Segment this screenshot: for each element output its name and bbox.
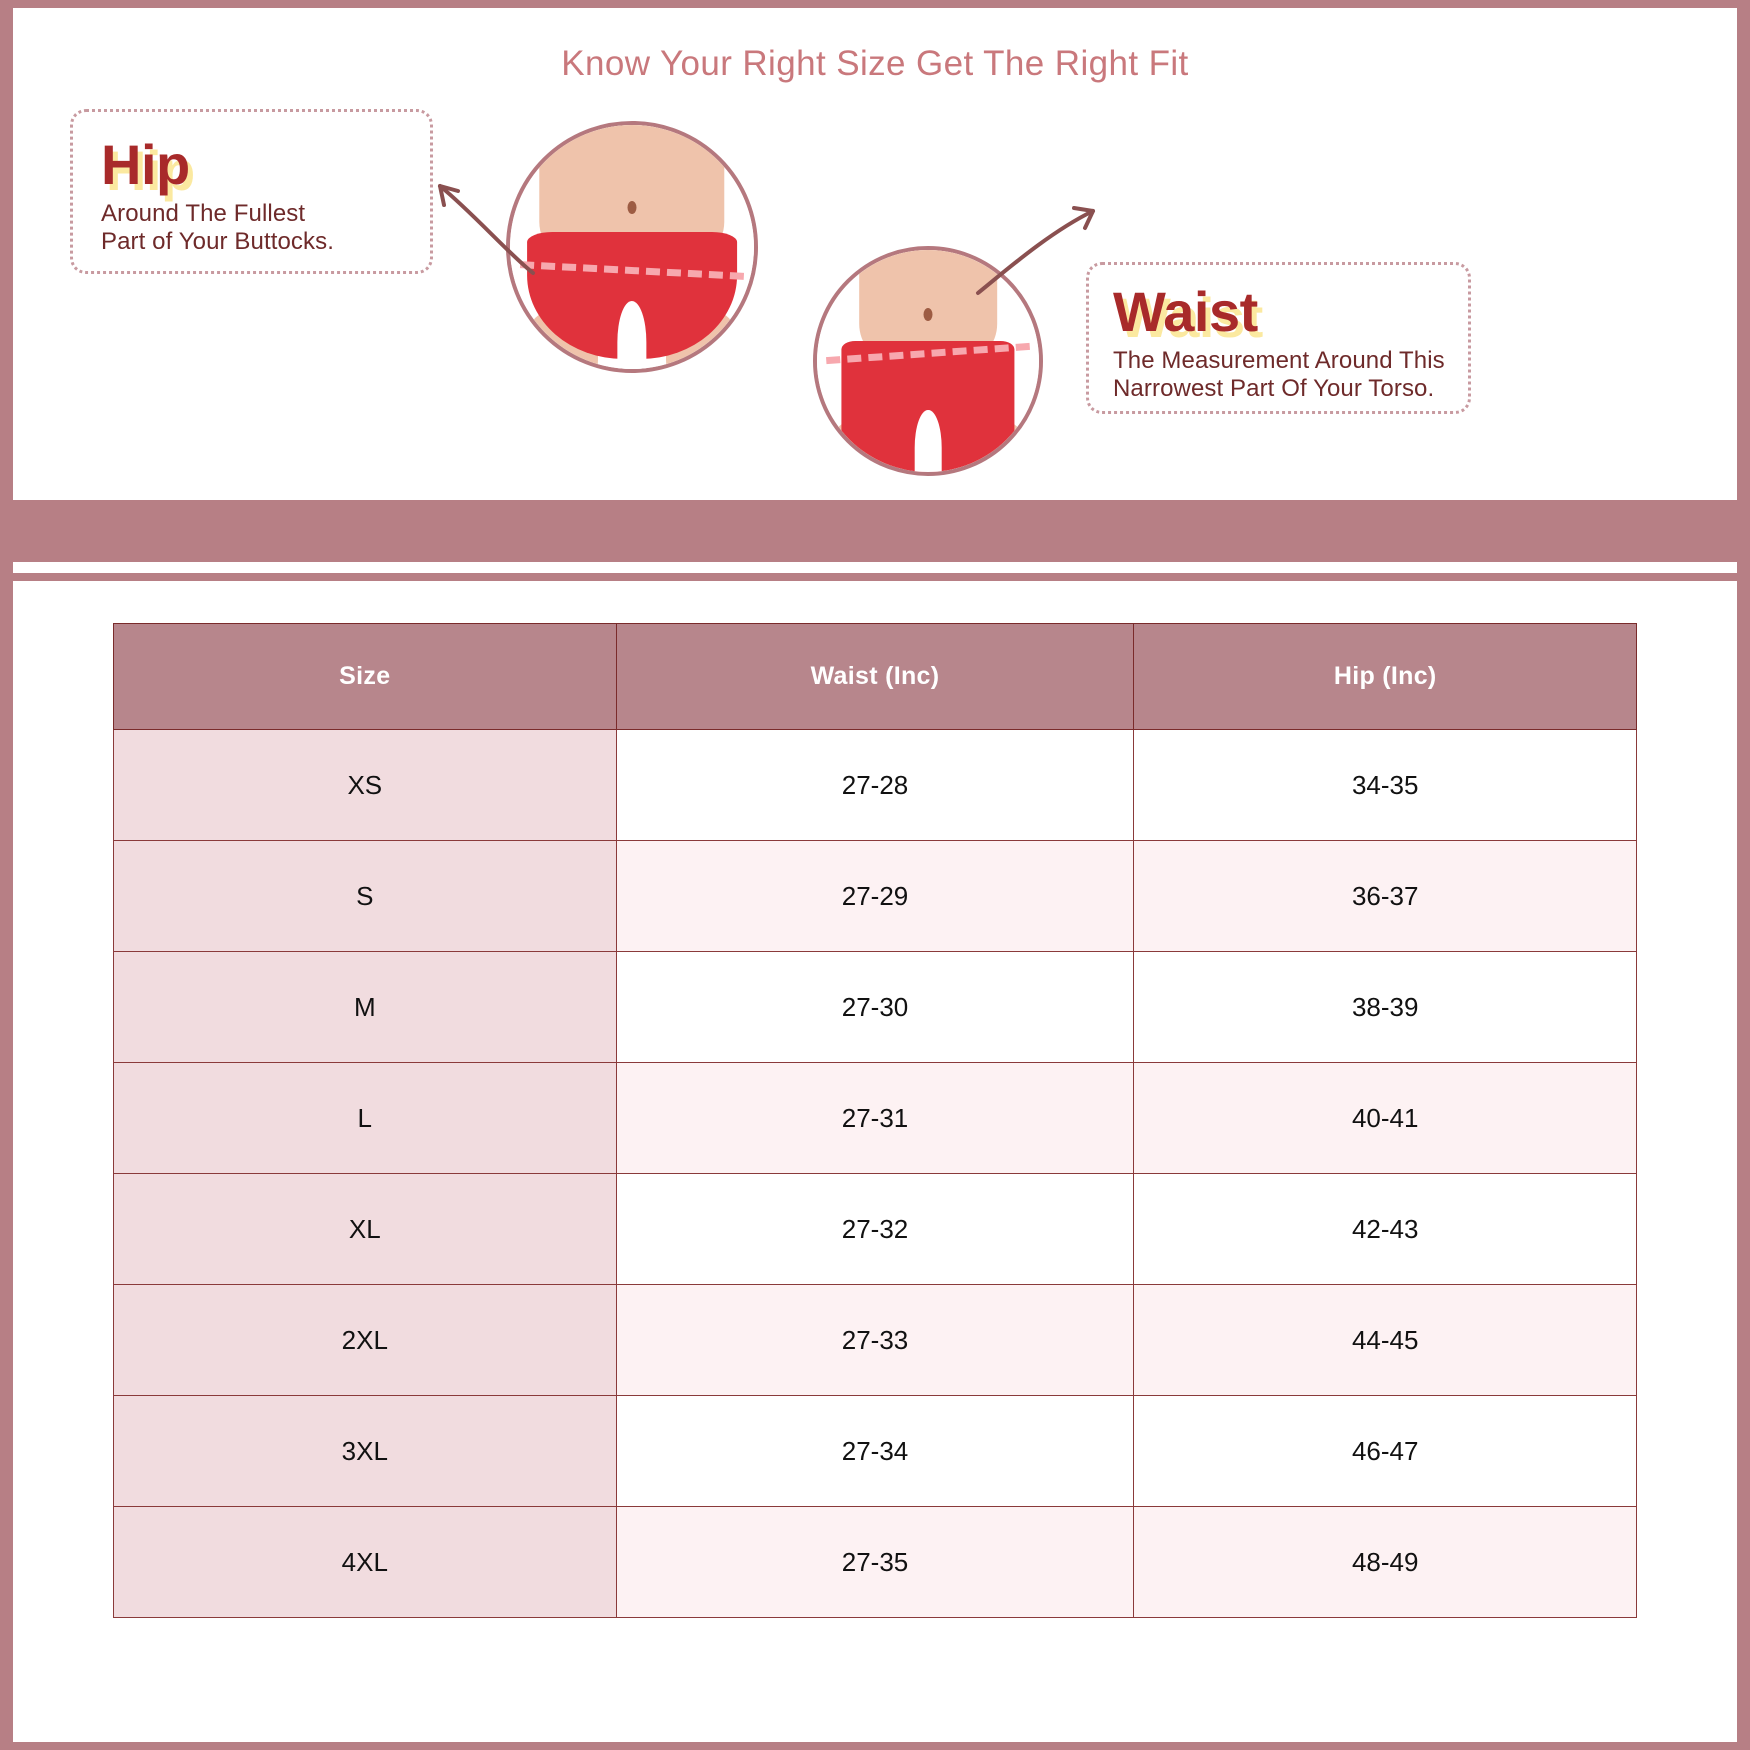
table-row: 3XL 27-34 46-47 [114, 1396, 1637, 1507]
cell-waist: 27-33 [616, 1285, 1134, 1396]
table-header: Size Waist (Inc) Hip (Inc) [114, 624, 1637, 730]
callout-hip-description: Around The Fullest Part of Your Buttocks… [101, 200, 430, 257]
cell-size: XS [114, 730, 617, 841]
cell-size: S [114, 841, 617, 952]
table-header-row: Size Waist (Inc) Hip (Inc) [114, 624, 1637, 730]
leg-gap-shape [915, 410, 942, 476]
page-title: Know Your Right Size Get The Right Fit [13, 44, 1737, 84]
navel-shape [924, 308, 933, 321]
cell-hip: 36-37 [1134, 841, 1637, 952]
cell-size: 3XL [114, 1396, 617, 1507]
cell-size: L [114, 1063, 617, 1174]
waist-photo-background [817, 250, 1039, 472]
divider-band-gap [13, 562, 1737, 573]
cell-waist: 27-35 [616, 1507, 1134, 1618]
cell-waist: 27-30 [616, 952, 1134, 1063]
table-row: 4XL 27-35 48-49 [114, 1507, 1637, 1618]
table-row: XL 27-32 42-43 [114, 1174, 1637, 1285]
table-row: L 27-31 40-41 [114, 1063, 1637, 1174]
size-chart-page: Know Your Right Size Get The Right Fit H… [0, 0, 1750, 1750]
cell-hip: 38-39 [1134, 952, 1637, 1063]
column-header-waist: Waist (Inc) [616, 624, 1134, 730]
cell-waist: 27-34 [616, 1396, 1134, 1507]
cell-size: 4XL [114, 1507, 617, 1618]
table-row: 2XL 27-33 44-45 [114, 1285, 1637, 1396]
cell-hip: 46-47 [1134, 1396, 1637, 1507]
callout-waist-heading: Waist [1113, 285, 1468, 339]
cell-waist: 27-29 [616, 841, 1134, 952]
waist-illustration-photo [813, 246, 1043, 476]
callout-waist-description: The Measurement Around This Narrowest Pa… [1113, 347, 1468, 404]
cell-size: M [114, 952, 617, 1063]
column-header-hip: Hip (Inc) [1134, 624, 1637, 730]
cell-hip: 42-43 [1134, 1174, 1637, 1285]
table-body: XS 27-28 34-35 S 27-29 36-37 M 27-30 38-… [114, 730, 1637, 1618]
cell-waist: 27-28 [616, 730, 1134, 841]
cell-hip: 44-45 [1134, 1285, 1637, 1396]
table-row: M 27-30 38-39 [114, 952, 1637, 1063]
hip-photo-background [510, 125, 754, 369]
column-header-size: Size [114, 624, 617, 730]
table-row: S 27-29 36-37 [114, 841, 1637, 952]
size-chart-table: Size Waist (Inc) Hip (Inc) XS 27-28 34-3… [113, 623, 1637, 1618]
divider-band-thick [13, 500, 1737, 562]
callout-waist: Waist The Measurement Around This Narrow… [1086, 262, 1471, 414]
table-row: XS 27-28 34-35 [114, 730, 1637, 841]
cell-hip: 48-49 [1134, 1507, 1637, 1618]
cell-size: XL [114, 1174, 617, 1285]
divider-band-thin [13, 573, 1737, 581]
cell-waist: 27-31 [616, 1063, 1134, 1174]
cell-hip: 34-35 [1134, 730, 1637, 841]
cell-size: 2XL [114, 1285, 617, 1396]
hero-section: Know Your Right Size Get The Right Fit H… [13, 8, 1737, 500]
hip-illustration-photo [506, 121, 758, 373]
callout-hip: Hip Around The Fullest Part of Your Butt… [70, 109, 433, 274]
cell-waist: 27-32 [616, 1174, 1134, 1285]
navel-shape [628, 201, 637, 214]
size-table-container: Size Waist (Inc) Hip (Inc) XS 27-28 34-3… [13, 581, 1737, 1618]
callout-hip-heading: Hip [101, 138, 430, 192]
cell-hip: 40-41 [1134, 1063, 1637, 1174]
